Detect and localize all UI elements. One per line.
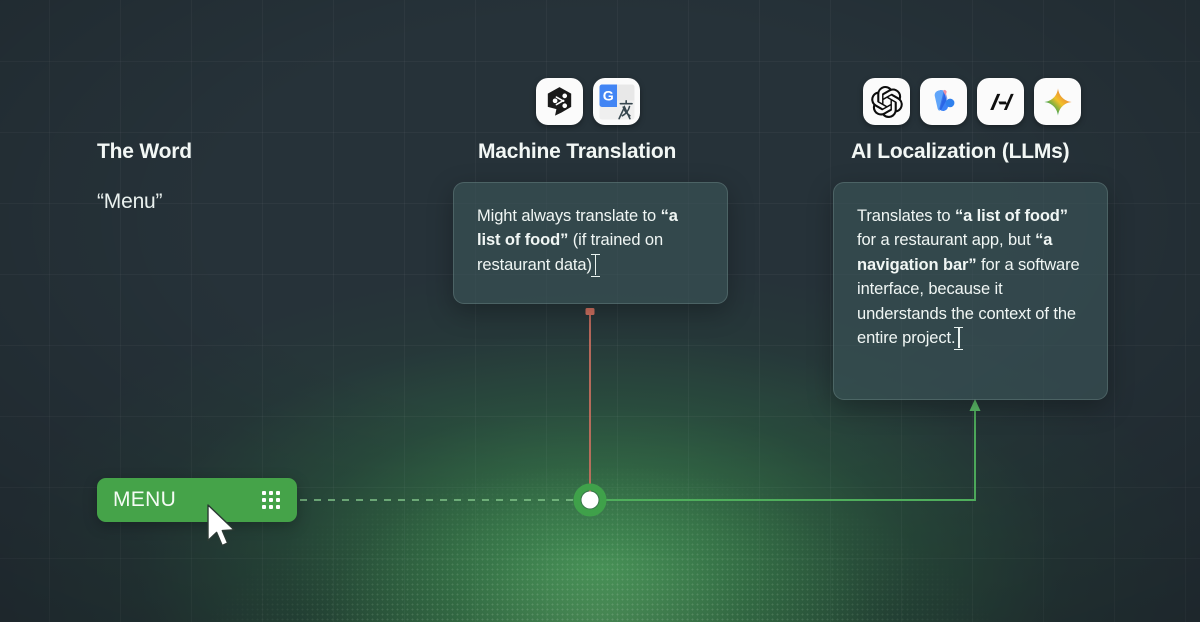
- machine-translation-icon-row: G: [536, 78, 640, 125]
- deepl-icon[interactable]: [536, 78, 583, 125]
- grid-3x3-icon: [262, 491, 280, 509]
- ai-localization-card: Translates to “a list of food” for a res…: [833, 182, 1108, 400]
- arrow-cursor: [205, 503, 245, 551]
- gemini-icon[interactable]: [1034, 78, 1081, 125]
- hub-node-ring[interactable]: [577, 487, 603, 513]
- ai-localization-title: AI Localization (LLMs): [851, 140, 1069, 164]
- mt-connector-cap: [586, 308, 595, 315]
- machine-translation-card-text: Might always translate to “a list of foo…: [477, 207, 678, 274]
- claude-icon[interactable]: [977, 78, 1024, 125]
- text-ibeam-cursor: [591, 254, 600, 275]
- ai-connector-line: [604, 410, 975, 500]
- text-ibeam-cursor: [954, 327, 963, 348]
- ai-connector-arrowhead: [970, 399, 981, 411]
- copilot-icon[interactable]: [920, 78, 967, 125]
- word-column-quote: “Menu”: [97, 190, 162, 214]
- google-translate-icon[interactable]: G: [593, 78, 640, 125]
- svg-text:G: G: [602, 88, 613, 104]
- menu-button-label: MENU: [113, 488, 176, 512]
- machine-translation-title: Machine Translation: [478, 140, 676, 164]
- diagram-canvas: The Word “Menu” G: [0, 0, 1200, 622]
- ai-localization-card-text: Translates to “a list of food” for a res…: [857, 207, 1080, 347]
- word-column-title: The Word: [97, 140, 192, 164]
- openai-icon[interactable]: [863, 78, 910, 125]
- machine-translation-card: Might always translate to “a list of foo…: [453, 182, 728, 304]
- menu-button[interactable]: MENU: [97, 478, 297, 522]
- ai-localization-icon-row: [863, 78, 1081, 125]
- hub-node-core: [582, 492, 599, 509]
